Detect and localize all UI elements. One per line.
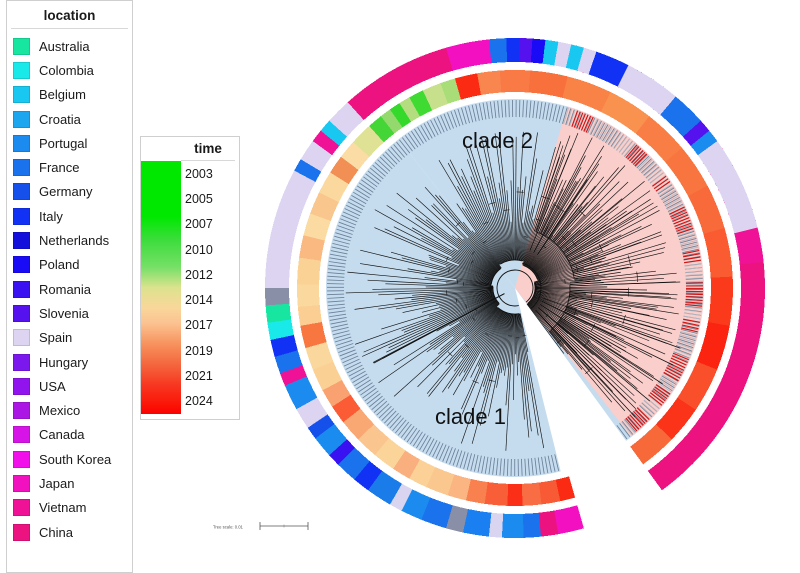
legend-color-swatch bbox=[13, 62, 30, 79]
legend-item-label: Slovenia bbox=[39, 306, 89, 321]
legend-item-label: France bbox=[39, 160, 79, 175]
legend-item-label: Croatia bbox=[39, 112, 81, 127]
legend-item-label: Poland bbox=[39, 257, 79, 272]
legend-row[interactable]: France bbox=[13, 155, 132, 179]
legend-color-swatch bbox=[13, 232, 30, 249]
legend-color-swatch bbox=[13, 208, 30, 225]
legend-item-label: Spain bbox=[39, 330, 72, 345]
legend-row[interactable]: Portugal bbox=[13, 131, 132, 155]
legend-color-swatch bbox=[13, 305, 30, 322]
legend-row[interactable]: Spain bbox=[13, 326, 132, 350]
tree-scale-bar: Tree scale: 0.01 bbox=[213, 522, 308, 530]
legend-row[interactable]: Australia bbox=[13, 34, 132, 58]
tree-svg: clade 2 clade 1 Tree scale: 0.01 bbox=[200, 0, 800, 573]
location-legend-panel: location AustraliaColombiaBelgiumCroatia… bbox=[6, 0, 133, 573]
legend-row[interactable]: Italy bbox=[13, 204, 132, 228]
legend-item-label: Germany bbox=[39, 184, 92, 199]
legend-item-label: Mexico bbox=[39, 403, 80, 418]
legend-row[interactable]: Netherlands bbox=[13, 228, 132, 252]
legend-color-swatch bbox=[13, 402, 30, 419]
legend-row[interactable]: Canada bbox=[13, 423, 132, 447]
legend-row[interactable]: Slovenia bbox=[13, 301, 132, 325]
legend-row[interactable]: Vietnam bbox=[13, 496, 132, 520]
legend-row[interactable]: Colombia bbox=[13, 58, 132, 82]
legend-color-swatch bbox=[13, 281, 30, 298]
legend-color-swatch bbox=[13, 86, 30, 103]
legend-color-swatch bbox=[13, 111, 30, 128]
legend-item-label: Colombia bbox=[39, 63, 94, 78]
legend-color-swatch bbox=[13, 159, 30, 176]
legend-row[interactable]: Poland bbox=[13, 253, 132, 277]
legend-color-swatch bbox=[13, 451, 30, 468]
location-legend-items: AustraliaColombiaBelgiumCroatiaPortugalF… bbox=[7, 29, 132, 544]
time-gradient-fill bbox=[141, 161, 181, 414]
legend-color-swatch bbox=[13, 475, 30, 492]
legend-item-label: Netherlands bbox=[39, 233, 109, 248]
legend-item-label: Vietnam bbox=[39, 500, 86, 515]
location-legend-title: location bbox=[11, 1, 128, 29]
time-gradient-bar bbox=[141, 161, 181, 414]
legend-color-swatch bbox=[13, 499, 30, 516]
legend-color-swatch bbox=[13, 524, 30, 541]
clade-2-label: clade 2 bbox=[462, 128, 533, 153]
phylogenetic-tree-figure: clade 2 clade 1 Tree scale: 0.01 bbox=[200, 0, 800, 573]
legend-row[interactable]: Japan bbox=[13, 471, 132, 495]
legend-item-label: Romania bbox=[39, 282, 91, 297]
legend-color-swatch bbox=[13, 183, 30, 200]
legend-color-swatch bbox=[13, 256, 30, 273]
legend-row[interactable]: South Korea bbox=[13, 447, 132, 471]
legend-item-label: Portugal bbox=[39, 136, 87, 151]
tree-scale-label: Tree scale: 0.01 bbox=[213, 525, 244, 530]
legend-item-label: Belgium bbox=[39, 87, 86, 102]
legend-row[interactable]: Mexico bbox=[13, 398, 132, 422]
legend-color-swatch bbox=[13, 38, 30, 55]
legend-item-label: Italy bbox=[39, 209, 63, 224]
legend-row[interactable]: Romania bbox=[13, 277, 132, 301]
legend-color-swatch bbox=[13, 329, 30, 346]
legend-item-label: Australia bbox=[39, 39, 90, 54]
legend-color-swatch bbox=[13, 426, 30, 443]
legend-item-label: Japan bbox=[39, 476, 74, 491]
legend-row[interactable]: Germany bbox=[13, 180, 132, 204]
legend-color-swatch bbox=[13, 135, 30, 152]
clade-1-label: clade 1 bbox=[435, 404, 506, 429]
legend-item-label: South Korea bbox=[39, 452, 111, 467]
legend-row[interactable]: Belgium bbox=[13, 83, 132, 107]
legend-row[interactable]: China bbox=[13, 520, 132, 544]
legend-color-swatch bbox=[13, 378, 30, 395]
legend-item-label: USA bbox=[39, 379, 66, 394]
legend-item-label: China bbox=[39, 525, 73, 540]
legend-row[interactable]: USA bbox=[13, 374, 132, 398]
legend-row[interactable]: Croatia bbox=[13, 107, 132, 131]
legend-item-label: Canada bbox=[39, 427, 85, 442]
legend-item-label: Hungary bbox=[39, 355, 88, 370]
legend-color-swatch bbox=[13, 354, 30, 371]
legend-row[interactable]: Hungary bbox=[13, 350, 132, 374]
